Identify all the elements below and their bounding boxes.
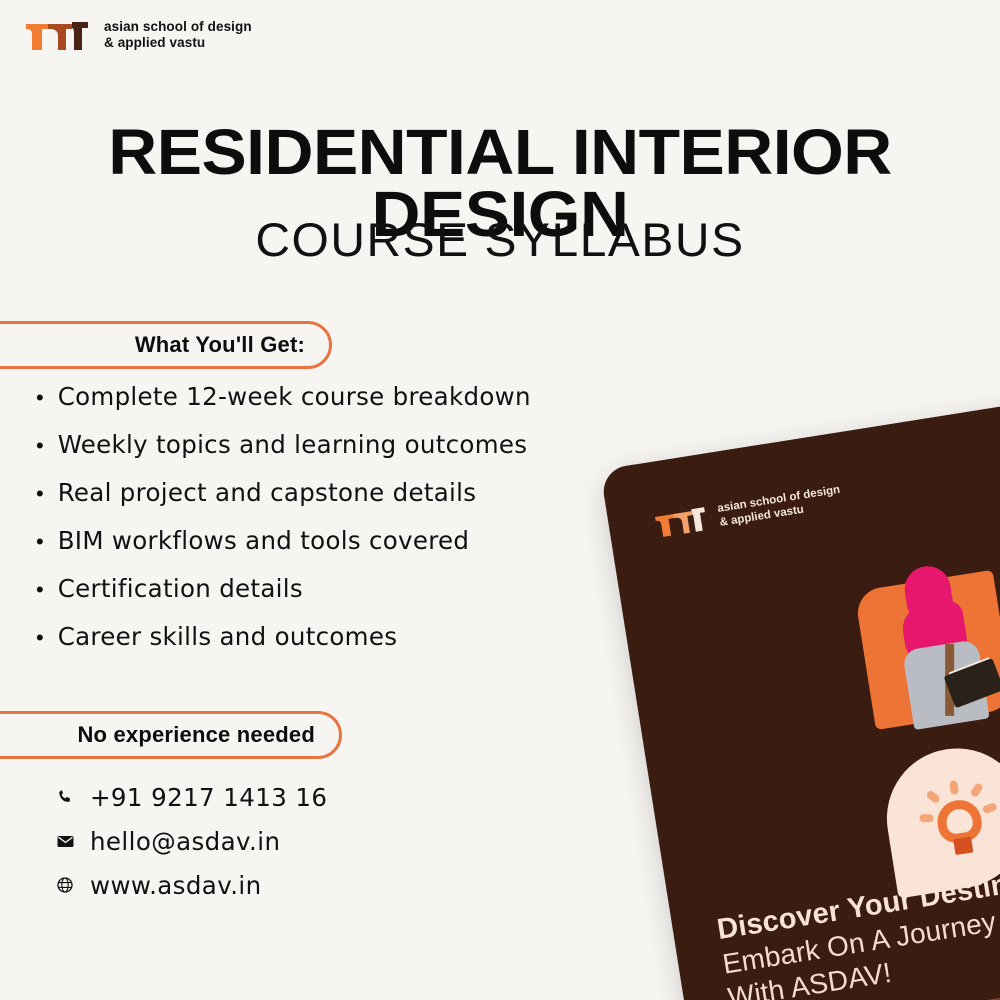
contact-row-website[interactable]: www.asdav.in: [56, 863, 327, 907]
poster-canvas: asian school of design & applied vastu R…: [0, 0, 1000, 1000]
brochure-card: asian school of design & applied vastu: [600, 389, 1000, 1000]
brand-lockup: asian school of design & applied vastu: [22, 16, 252, 54]
badge-what-you-get: What You'll Get:: [0, 321, 332, 369]
asdav-arches-logo-icon: [22, 16, 92, 54]
globe-icon: [56, 877, 74, 893]
list-item: • Weekly topics and learning outcomes: [36, 430, 636, 478]
lightbulb-icon: [915, 775, 1000, 866]
list-item-label: Complete 12-week course breakdown: [58, 382, 531, 411]
brand-text: asian school of design & applied vastu: [104, 19, 252, 52]
list-item: • Certification details: [36, 574, 636, 622]
brochure-preview[interactable]: asian school of design & applied vastu: [600, 389, 1000, 1000]
asdav-arches-logo-icon: [651, 502, 711, 542]
brand-line-1: asian school of design: [104, 19, 252, 35]
list-item-label: Career skills and outcomes: [58, 622, 398, 651]
benefits-list: • Complete 12-week course breakdown • We…: [36, 382, 636, 670]
bullet-icon: •: [36, 531, 44, 553]
bullet-icon: •: [36, 627, 44, 649]
list-item-label: BIM workflows and tools covered: [58, 526, 470, 555]
phone-number: +91 9217 1413 16: [90, 783, 327, 812]
list-item: • Complete 12-week course breakdown: [36, 382, 636, 430]
bullet-icon: •: [36, 483, 44, 505]
badge-no-experience-label: No experience needed: [77, 722, 315, 748]
contact-block: +91 9217 1413 16 hello@asdav.in www.asda…: [56, 775, 327, 907]
contact-row-phone[interactable]: +91 9217 1413 16: [56, 775, 327, 819]
list-item: • Real project and capstone details: [36, 478, 636, 526]
list-item-label: Certification details: [58, 574, 303, 603]
list-item: • Career skills and outcomes: [36, 622, 636, 670]
badge-what-you-get-label: What You'll Get:: [135, 332, 305, 358]
bullet-icon: •: [36, 579, 44, 601]
brochure-brand-lockup: asian school of design & applied vastu: [651, 481, 844, 542]
email-address: hello@asdav.in: [90, 827, 280, 856]
badge-no-experience: No experience needed: [0, 711, 342, 759]
contact-row-email[interactable]: hello@asdav.in: [56, 819, 327, 863]
list-item-label: Weekly topics and learning outcomes: [58, 430, 528, 459]
bullet-icon: •: [36, 435, 44, 457]
list-item: • BIM workflows and tools covered: [36, 526, 636, 574]
bullet-icon: •: [36, 387, 44, 409]
page-subtitle: COURSE SYLLABUS: [0, 212, 1000, 267]
website-url: www.asdav.in: [90, 871, 262, 900]
brochure-brand-text: asian school of design & applied vastu: [716, 482, 843, 530]
phone-icon: [56, 789, 74, 805]
email-icon: [56, 835, 74, 848]
brand-line-2: & applied vastu: [104, 35, 252, 51]
list-item-label: Real project and capstone details: [58, 478, 477, 507]
